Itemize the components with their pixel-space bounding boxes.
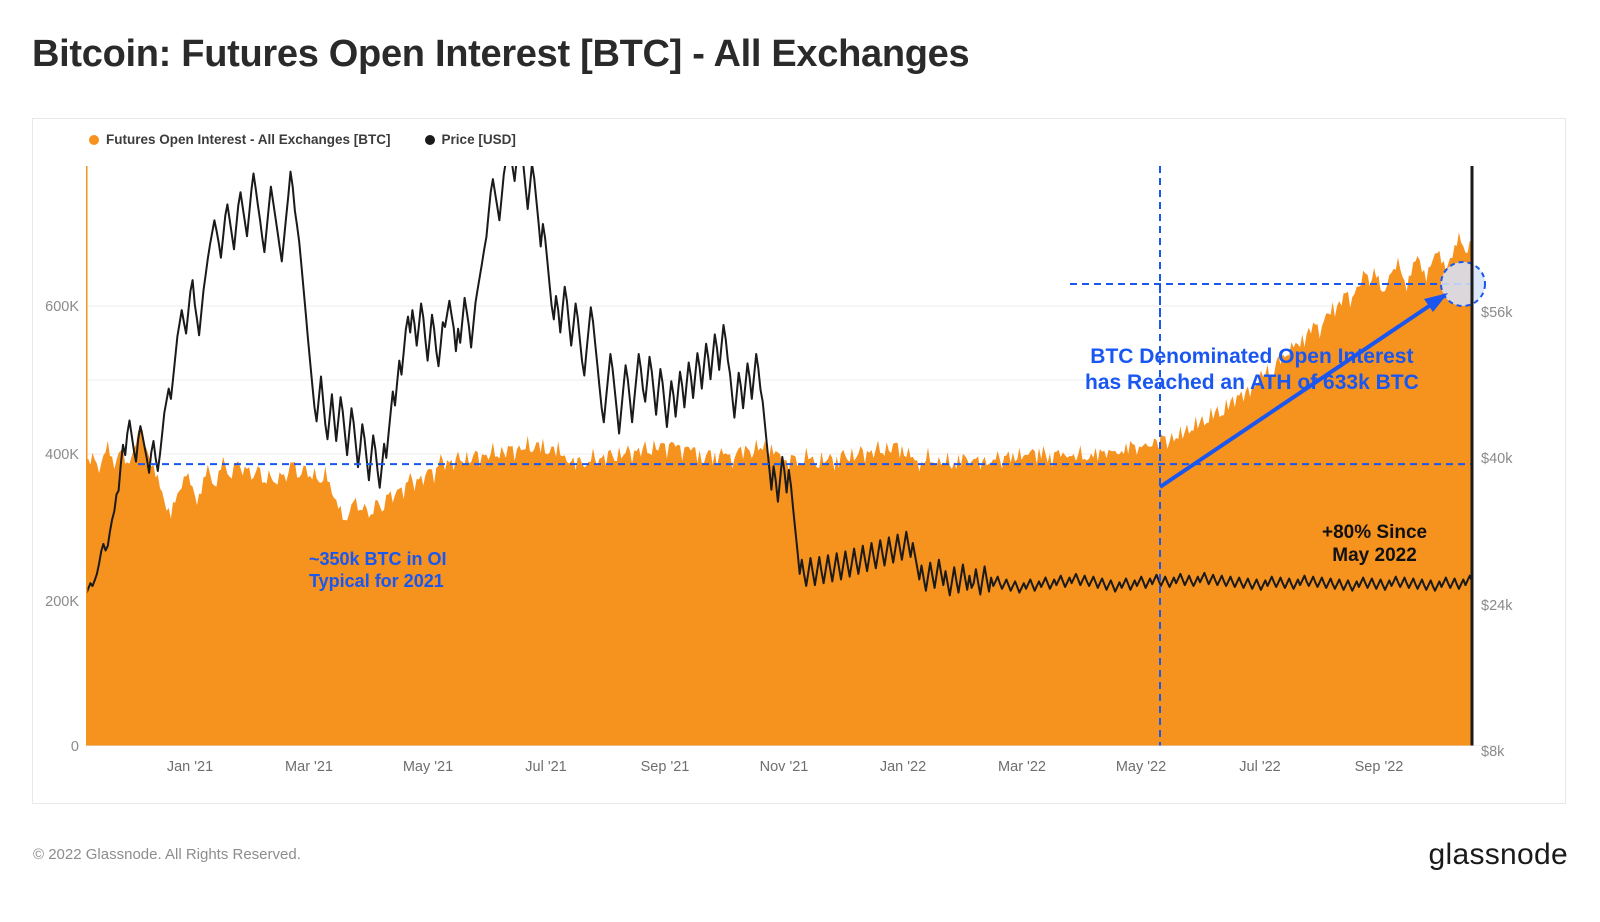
- copyright-text: © 2022 Glassnode. All Rights Reserved.: [33, 846, 301, 863]
- x-axis-tick-mar-22: Mar '22: [998, 759, 1046, 775]
- glassnode-logo: glassnode: [1429, 838, 1568, 872]
- legend-item-price[interactable]: Price [USD]: [425, 132, 516, 147]
- y-axis-left-tick-0: 0: [31, 739, 79, 755]
- chart-legend: Futures Open Interest - All Exchanges [B…: [89, 132, 516, 147]
- x-axis-tick-jul-21: Jul '21: [525, 759, 566, 775]
- page-title: Bitcoin: Futures Open Interest [BTC] - A…: [32, 33, 969, 76]
- ath-marker-circle: [1441, 262, 1485, 306]
- y-axis-left-tick-600k: 600K: [31, 299, 79, 315]
- chart-card: Futures Open Interest - All Exchanges [B…: [32, 118, 1566, 804]
- black-dot-icon: [425, 135, 435, 145]
- y-axis-left-tick-200k: 200K: [31, 594, 79, 610]
- chart-page: Bitcoin: Futures Open Interest [BTC] - A…: [0, 0, 1600, 922]
- y-axis-right-tick-8k: $8k: [1481, 744, 1504, 760]
- chart-svg: [86, 166, 1502, 746]
- y-axis-left-tick-400k: 400K: [31, 447, 79, 463]
- orange-dot-icon: [89, 135, 99, 145]
- x-axis-tick-may-21: May '21: [403, 759, 453, 775]
- legend-item-open-interest[interactable]: Futures Open Interest - All Exchanges [B…: [89, 132, 391, 147]
- x-axis-tick-jul-22: Jul '22: [1239, 759, 1280, 775]
- x-axis-tick-nov-21: Nov '21: [760, 759, 809, 775]
- x-axis-tick-sep-22: Sep '22: [1355, 759, 1404, 775]
- x-axis-tick-may-22: May '22: [1116, 759, 1166, 775]
- x-axis-tick-mar-21: Mar '21: [285, 759, 333, 775]
- x-axis-tick-sep-21: Sep '21: [641, 759, 690, 775]
- legend-label-open-interest: Futures Open Interest - All Exchanges [B…: [106, 132, 391, 147]
- x-axis-tick-jan-21: Jan '21: [167, 759, 213, 775]
- data-series-layer: [86, 166, 1472, 746]
- plot-area: [86, 166, 1502, 746]
- legend-label-price: Price [USD]: [442, 132, 516, 147]
- x-axis-tick-jan-22: Jan '22: [880, 759, 926, 775]
